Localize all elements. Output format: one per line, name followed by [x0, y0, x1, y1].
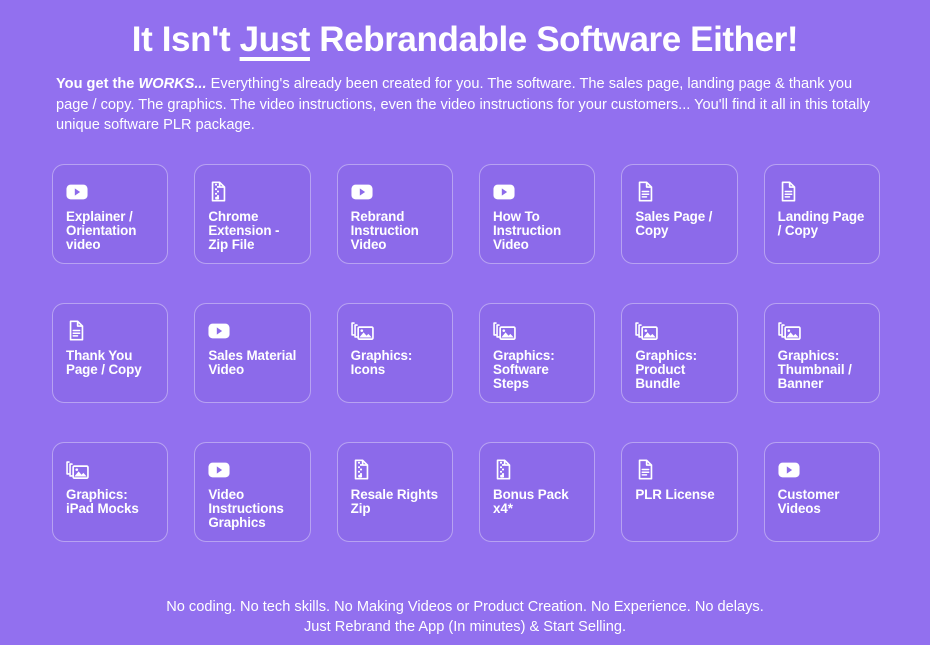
intro-paragraph: You get the WORKS... Everything's alread…: [40, 74, 890, 136]
footer-line-1: No coding. No tech skills. No Making Vid…: [0, 597, 930, 617]
deliverable-card-label: Landing Page / Copy: [778, 210, 866, 238]
deliverable-card-label: Rebrand Instruction Video: [351, 210, 439, 252]
deliverable-card-label: PLR License: [635, 488, 714, 502]
page-title: It Isn't Just Rebrandable Software Eithe…: [40, 0, 890, 60]
deliverable-card[interactable]: Graphics: Icons: [337, 303, 453, 403]
deliverable-card-label: Thank You Page / Copy: [66, 349, 154, 377]
images-stack-icon: [351, 320, 374, 342]
deliverable-card[interactable]: Bonus Pack x4*: [479, 442, 595, 542]
images-stack-icon: [778, 320, 801, 342]
deliverable-card-label: Graphics: Icons: [351, 349, 439, 377]
deliverable-card[interactable]: How To Instruction Video: [479, 164, 595, 264]
deliverable-card[interactable]: Resale Rights Zip: [337, 442, 453, 542]
file-text-icon: [66, 320, 87, 342]
deliverable-card[interactable]: Thank You Page / Copy: [52, 303, 168, 403]
deliverable-card-label: Chrome Extension - Zip File: [208, 210, 296, 252]
youtube-play-icon: [778, 459, 800, 481]
file-archive-icon: [493, 459, 514, 481]
deliverable-card-label: Graphics: Product Bundle: [635, 349, 723, 391]
headline-part-2: Rebrandable Software Either!: [310, 20, 798, 59]
deliverable-card-label: Graphics: iPad Mocks: [66, 488, 154, 516]
deliverable-card[interactable]: Landing Page / Copy: [764, 164, 880, 264]
deliverable-card-label: Graphics: Software Steps: [493, 349, 581, 391]
youtube-play-icon: [351, 181, 373, 203]
deliverable-card-label: Resale Rights Zip: [351, 488, 439, 516]
deliverable-card-label: Bonus Pack x4*: [493, 488, 581, 516]
file-text-icon: [778, 181, 799, 203]
images-stack-icon: [635, 320, 658, 342]
youtube-play-icon: [208, 320, 230, 342]
intro-lead-emphasis: WORKS...: [138, 76, 206, 92]
headline-underlined-word: Just: [240, 20, 310, 59]
promo-page: It Isn't Just Rebrandable Software Eithe…: [0, 0, 930, 645]
footer-line-2: Just Rebrand the App (In minutes) & Star…: [0, 617, 930, 637]
deliverable-card[interactable]: Graphics: Software Steps: [479, 303, 595, 403]
deliverable-card[interactable]: PLR License: [621, 442, 737, 542]
file-text-icon: [635, 181, 656, 203]
deliverable-card[interactable]: Explainer / Orientation video: [52, 164, 168, 264]
deliverable-card-label: Graphics: Thumbnail / Banner: [778, 349, 866, 391]
deliverable-card[interactable]: Graphics: iPad Mocks: [52, 442, 168, 542]
youtube-play-icon: [66, 181, 88, 203]
deliverable-card[interactable]: Customer Videos: [764, 442, 880, 542]
images-stack-icon: [66, 459, 89, 481]
youtube-play-icon: [493, 181, 515, 203]
deliverable-card-label: Sales Page / Copy: [635, 210, 723, 238]
deliverable-card[interactable]: Rebrand Instruction Video: [337, 164, 453, 264]
youtube-play-icon: [208, 459, 230, 481]
deliverables-grid: Explainer / Orientation videoChrome Exte…: [40, 164, 890, 542]
intro-lead-bold: You get the: [56, 76, 138, 92]
deliverable-card[interactable]: Graphics: Product Bundle: [621, 303, 737, 403]
file-archive-icon: [208, 181, 229, 203]
deliverable-card-label: Video Instructions Graphics: [208, 488, 296, 530]
headline-part-1: It Isn't: [132, 20, 240, 59]
deliverable-card[interactable]: Chrome Extension - Zip File: [194, 164, 310, 264]
deliverable-card[interactable]: Sales Material Video: [194, 303, 310, 403]
deliverable-card-label: Customer Videos: [778, 488, 866, 516]
images-stack-icon: [493, 320, 516, 342]
deliverable-card-label: Explainer / Orientation video: [66, 210, 154, 252]
deliverable-card[interactable]: Sales Page / Copy: [621, 164, 737, 264]
deliverable-card[interactable]: Graphics: Thumbnail / Banner: [764, 303, 880, 403]
deliverable-card-label: Sales Material Video: [208, 349, 296, 377]
footer-note: No coding. No tech skills. No Making Vid…: [0, 597, 930, 637]
file-archive-icon: [351, 459, 372, 481]
deliverable-card[interactable]: Video Instructions Graphics: [194, 442, 310, 542]
file-text-icon: [635, 459, 656, 481]
deliverable-card-label: How To Instruction Video: [493, 210, 581, 252]
